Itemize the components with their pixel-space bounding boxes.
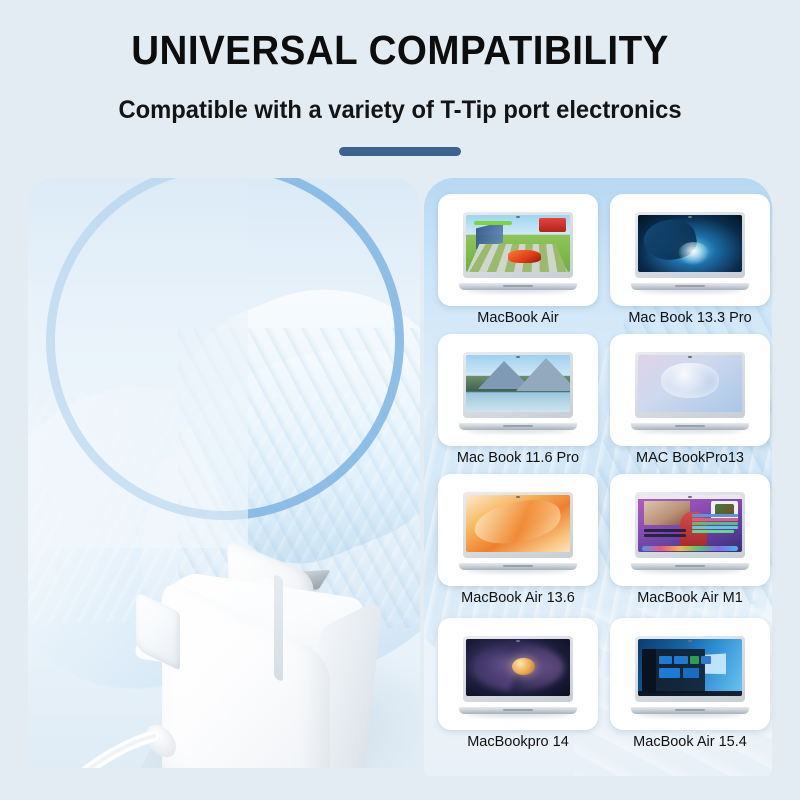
laptop-screen	[638, 215, 742, 272]
laptop-lid	[463, 352, 573, 418]
device-cell[interactable]: Mac Book 13.3 Pro	[610, 194, 770, 326]
laptop-lid	[463, 212, 573, 278]
adapter-seam	[274, 574, 283, 682]
device-card[interactable]	[438, 194, 598, 306]
device-label: Mac Book 11.6 Pro	[434, 450, 602, 466]
device-card[interactable]	[610, 194, 770, 306]
laptop-illustration	[459, 210, 577, 290]
laptop-shadow	[465, 568, 571, 573]
laptop-illustration	[459, 350, 577, 430]
laptop-illustration	[631, 350, 749, 430]
device-label: MacBook Air 13.6	[434, 590, 602, 606]
laptop-screen	[466, 495, 570, 552]
laptop-lid	[635, 492, 745, 558]
webcam-icon	[516, 216, 520, 218]
laptop-screen	[466, 215, 570, 272]
laptop-shadow	[637, 568, 743, 573]
device-cell[interactable]: MacBook Air	[438, 194, 598, 326]
device-card[interactable]	[610, 334, 770, 446]
laptop-lid	[635, 352, 745, 418]
ring-fade-mask	[28, 178, 248, 548]
power-adapter-illustration	[124, 558, 420, 768]
device-cell[interactable]: MacBook Air M1	[610, 474, 770, 606]
laptop-shadow	[465, 428, 571, 433]
laptop-illustration	[459, 634, 577, 714]
device-cell[interactable]: MacBook Air 15.4	[610, 618, 770, 750]
page-title: UNIVERSAL COMPATIBILITY	[24, 28, 776, 72]
device-label: MAC BookPro13	[606, 450, 774, 466]
laptop-screen	[638, 355, 742, 412]
device-label: Mac Book 13.3 Pro	[606, 310, 774, 326]
laptop-lid	[635, 212, 745, 278]
device-card[interactable]	[610, 474, 770, 586]
webcam-icon	[688, 496, 692, 498]
laptop-illustration	[631, 634, 749, 714]
laptop-screen	[466, 639, 570, 696]
laptop-shadow	[637, 712, 743, 717]
page-subtitle: Compatible with a variety of T-Tip port …	[20, 96, 780, 125]
webcam-icon	[688, 640, 692, 642]
laptop-shadow	[637, 288, 743, 293]
webcam-icon	[516, 496, 520, 498]
laptop-screen	[638, 639, 742, 696]
adapter-cable	[28, 678, 228, 768]
product-hero-panel	[28, 178, 420, 768]
laptop-illustration	[459, 490, 577, 570]
device-cell[interactable]: Mac Book 11.6 Pro	[438, 334, 598, 466]
device-cell[interactable]: MacBookpro 14	[438, 618, 598, 750]
laptop-screen	[638, 495, 742, 552]
webcam-icon	[688, 216, 692, 218]
device-card[interactable]	[610, 618, 770, 730]
laptop-illustration	[631, 490, 749, 570]
laptop-lid	[463, 636, 573, 702]
device-cell[interactable]: MacBook Air 13.6	[438, 474, 598, 606]
webcam-icon	[516, 640, 520, 642]
webcam-icon	[516, 356, 520, 358]
device-label: MacBook Air	[434, 310, 602, 326]
infographic-canvas: UNIVERSAL COMPATIBILITY Compatible with …	[0, 0, 800, 800]
device-card[interactable]	[438, 618, 598, 730]
compatibility-grid: MacBook Air Mac Book 13.3 Pro	[424, 178, 772, 776]
laptop-lid	[463, 492, 573, 558]
device-label: MacBookpro 14	[434, 734, 602, 750]
webcam-icon	[688, 356, 692, 358]
laptop-lid	[635, 636, 745, 702]
laptop-screen	[466, 355, 570, 412]
laptop-shadow	[637, 428, 743, 433]
device-label: MacBook Air M1	[606, 590, 774, 606]
device-cell[interactable]: MAC BookPro13	[610, 334, 770, 466]
laptop-illustration	[631, 210, 749, 290]
device-label: MacBook Air 15.4	[606, 734, 774, 750]
title-divider	[339, 147, 461, 156]
laptop-shadow	[465, 712, 571, 717]
device-card[interactable]	[438, 474, 598, 586]
laptop-shadow	[465, 288, 571, 293]
device-card[interactable]	[438, 334, 598, 446]
